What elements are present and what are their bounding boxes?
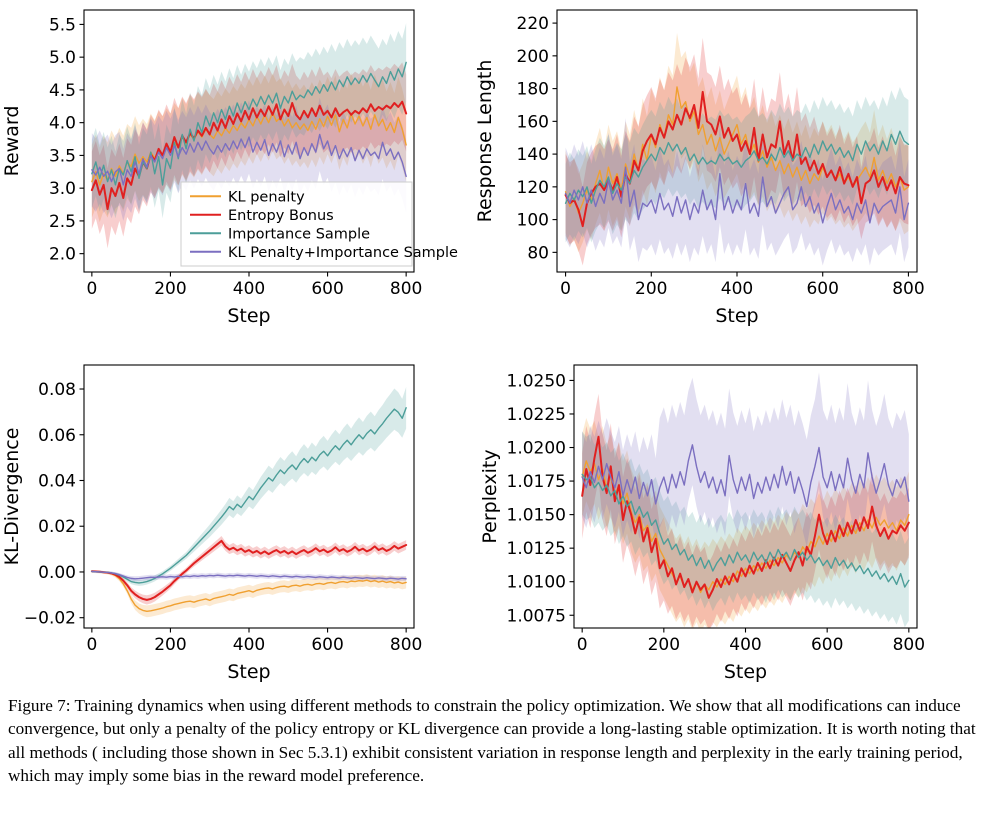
- svg-text:600: 600: [311, 279, 343, 299]
- svg-text:Reward: Reward: [1, 106, 23, 177]
- svg-text:1.0225: 1.0225: [507, 405, 566, 425]
- svg-text:80: 80: [527, 243, 549, 263]
- svg-text:800: 800: [390, 279, 422, 299]
- svg-text:200: 200: [154, 635, 186, 655]
- svg-text:140: 140: [517, 145, 549, 165]
- svg-text:1.0100: 1.0100: [507, 573, 566, 593]
- svg-text:220: 220: [517, 14, 549, 34]
- svg-text:KL Penalty+Importance Sample: KL Penalty+Importance Sample: [228, 245, 458, 261]
- svg-text:1.0200: 1.0200: [507, 439, 566, 459]
- svg-text:1.0125: 1.0125: [507, 539, 566, 559]
- svg-text:200: 200: [154, 279, 186, 299]
- svg-text:Step: Step: [724, 661, 767, 682]
- panel-reward: 02004006008002.02.53.03.54.04.55.05.5Ste…: [0, 0, 460, 341]
- svg-text:Perplexity: Perplexity: [479, 449, 501, 543]
- svg-text:Step: Step: [227, 305, 270, 327]
- svg-text:Step: Step: [227, 661, 270, 682]
- svg-text:0.06: 0.06: [38, 426, 76, 446]
- panel-response-length: 020040060080080100120140160180200220Step…: [474, 0, 986, 341]
- svg-text:100: 100: [517, 211, 549, 231]
- svg-text:1.0250: 1.0250: [507, 371, 566, 391]
- svg-text:4.0: 4.0: [49, 114, 76, 134]
- svg-text:Entropy Bonus: Entropy Bonus: [228, 208, 334, 224]
- panel-kl-divergence: 0200400600800−0.020.000.020.040.060.08St…: [0, 341, 460, 682]
- svg-text:400: 400: [233, 279, 265, 299]
- svg-text:400: 400: [729, 635, 761, 655]
- svg-text:120: 120: [517, 178, 549, 198]
- svg-text:0: 0: [86, 635, 97, 655]
- svg-text:0: 0: [560, 279, 571, 299]
- svg-text:0.02: 0.02: [38, 517, 76, 537]
- svg-text:1.0150: 1.0150: [507, 506, 566, 526]
- svg-text:600: 600: [806, 279, 838, 299]
- svg-text:2.5: 2.5: [49, 212, 76, 232]
- svg-text:600: 600: [811, 635, 843, 655]
- svg-text:4.5: 4.5: [49, 81, 76, 101]
- svg-text:1.0075: 1.0075: [507, 606, 566, 626]
- svg-text:5.0: 5.0: [49, 48, 76, 68]
- svg-text:0.00: 0.00: [38, 563, 76, 583]
- svg-text:800: 800: [892, 279, 924, 299]
- figure-caption: Figure 7: Training dynamics when using d…: [8, 694, 976, 788]
- subplot-grid: 02004006008002.02.53.03.54.04.55.05.5Ste…: [0, 0, 986, 682]
- svg-text:3.5: 3.5: [49, 146, 76, 166]
- svg-text:−0.02: −0.02: [24, 609, 76, 629]
- svg-text:800: 800: [390, 635, 422, 655]
- svg-text:1.0175: 1.0175: [507, 472, 566, 492]
- svg-text:0.04: 0.04: [38, 471, 76, 491]
- panel-perplexity: 02004006008001.00751.01001.01251.01501.0…: [474, 341, 986, 682]
- svg-text:160: 160: [517, 112, 549, 132]
- svg-text:KL-Divergence: KL-Divergence: [1, 428, 23, 566]
- svg-text:400: 400: [233, 635, 265, 655]
- svg-text:0: 0: [86, 279, 97, 299]
- svg-text:200: 200: [517, 47, 549, 67]
- svg-text:Importance Sample: Importance Sample: [228, 226, 370, 242]
- svg-text:180: 180: [517, 80, 549, 100]
- svg-text:5.5: 5.5: [49, 15, 76, 35]
- svg-text:200: 200: [648, 635, 680, 655]
- svg-text:3.0: 3.0: [49, 179, 76, 199]
- svg-text:Step: Step: [715, 305, 758, 327]
- svg-text:2.0: 2.0: [49, 245, 76, 265]
- svg-text:800: 800: [893, 635, 925, 655]
- svg-text:0: 0: [577, 635, 588, 655]
- svg-text:400: 400: [721, 279, 753, 299]
- figure-7: 02004006008002.02.53.03.54.04.55.05.5Ste…: [0, 0, 986, 828]
- svg-text:Response Length: Response Length: [474, 60, 496, 223]
- svg-text:0.08: 0.08: [38, 380, 76, 400]
- svg-text:200: 200: [635, 279, 667, 299]
- svg-text:KL penalty: KL penalty: [228, 189, 305, 205]
- svg-text:600: 600: [311, 635, 343, 655]
